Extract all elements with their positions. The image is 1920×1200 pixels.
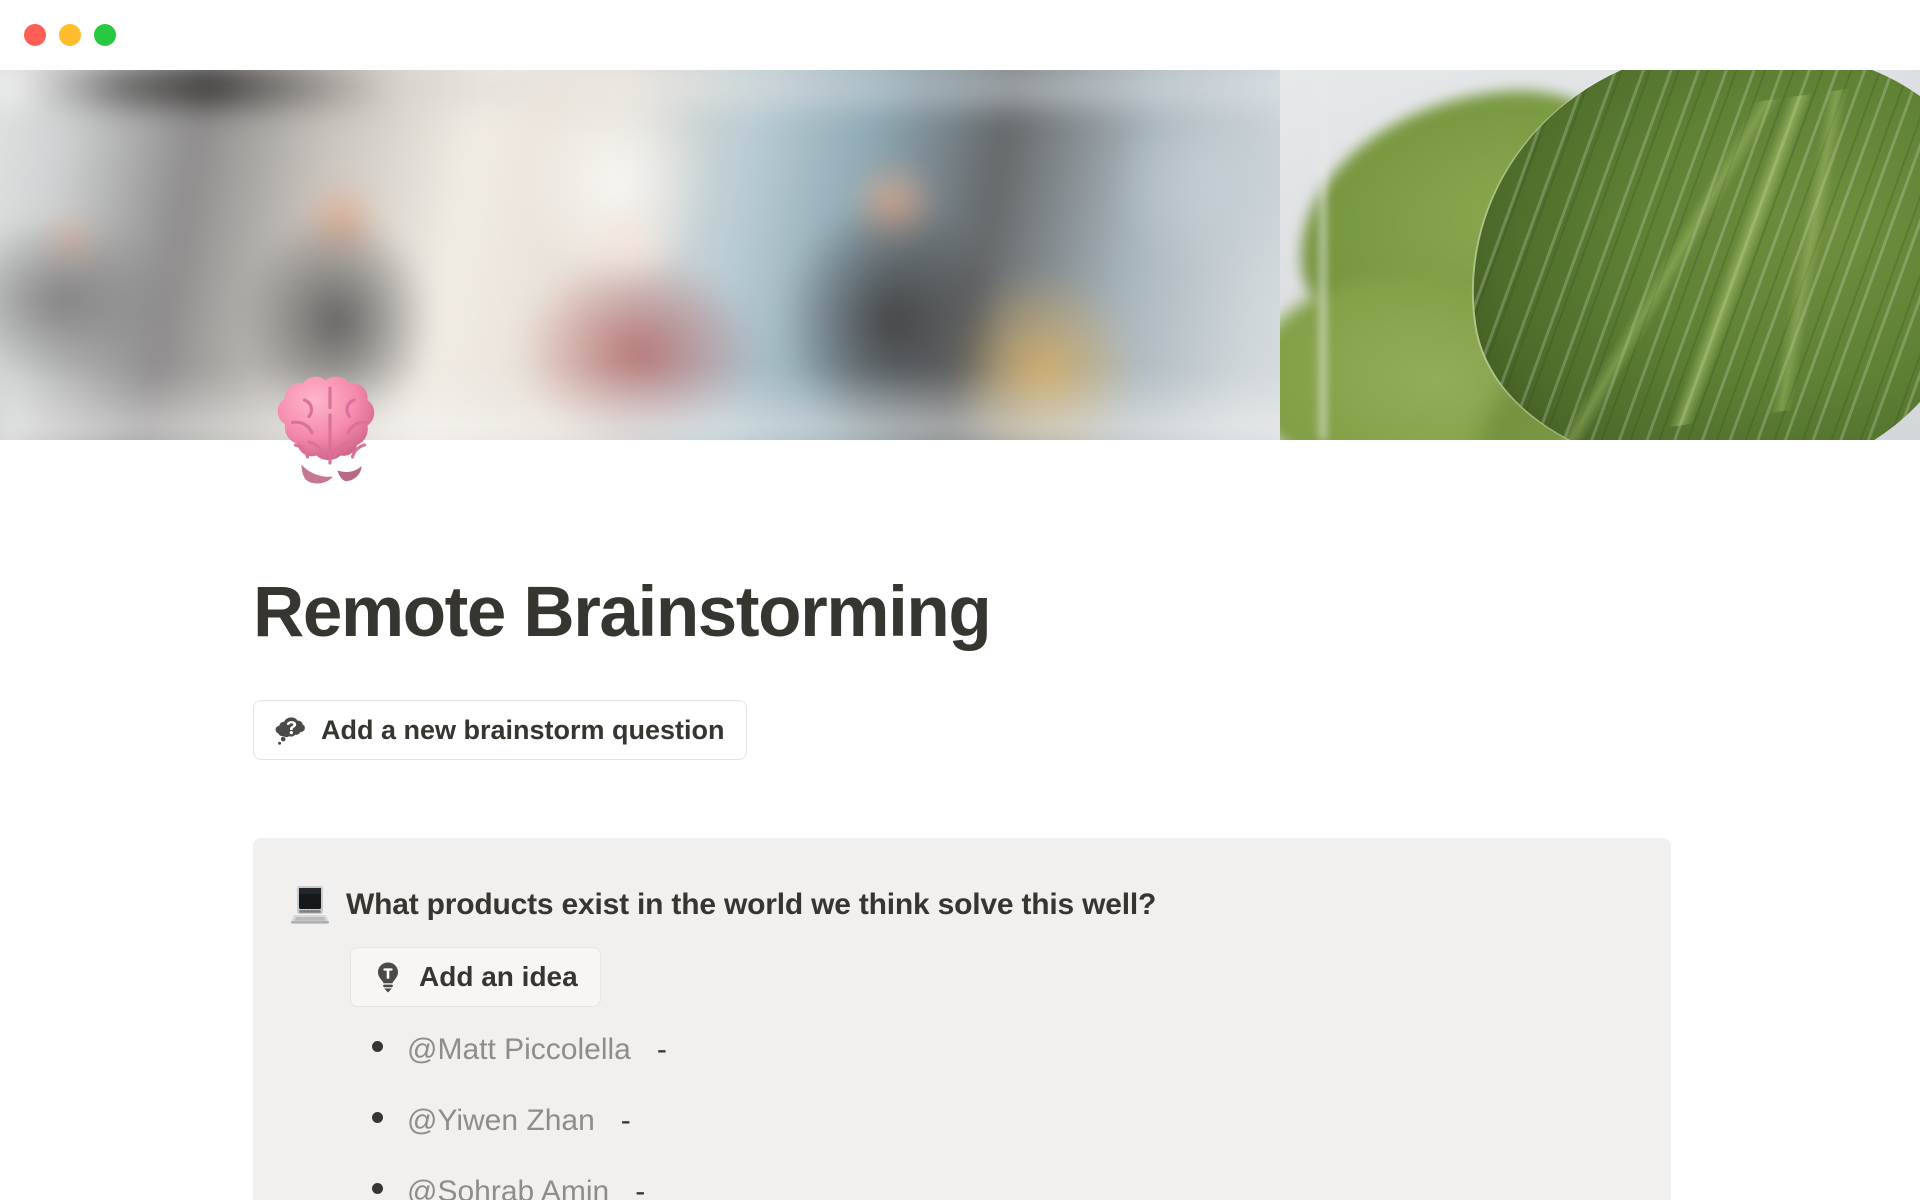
minimize-window-button[interactable] (59, 24, 81, 46)
laptop-icon (290, 884, 330, 926)
cover-plant-photo (1280, 67, 1920, 440)
mention-chip[interactable]: @Matt Piccolella (407, 1033, 631, 1066)
plant-leaf-veins (1482, 74, 1920, 440)
thought-balloon-question-icon (275, 714, 307, 746)
mention-chip[interactable]: @Yiwen Zhan (407, 1104, 595, 1137)
list-item[interactable]: @Yiwen Zhan - (253, 1104, 1671, 1137)
cover-video-top-band (0, 67, 1320, 107)
idea-list: @Matt Piccolella - @Yiwen Zhan - @Sohrab… (253, 1033, 1671, 1200)
window-title-bar (0, 0, 1920, 70)
question-title: What products exist in the world we thin… (346, 888, 1156, 922)
cover-video-bottom-fade (0, 370, 1320, 440)
idea-text: - (621, 1104, 631, 1137)
traffic-light-group (24, 24, 116, 46)
question-header: What products exist in the world we thin… (253, 884, 1671, 926)
lightbulb-icon (373, 961, 403, 993)
list-item[interactable]: @Matt Piccolella - (253, 1033, 1671, 1066)
brainstorm-question-card: What products exist in the world we thin… (253, 838, 1671, 1200)
zoom-window-button[interactable] (94, 24, 116, 46)
cover-image-seam (1316, 67, 1326, 440)
page-title: Remote Brainstorming (253, 575, 990, 652)
add-idea-button[interactable]: Add an idea (350, 947, 601, 1007)
bullet-icon (372, 1183, 383, 1194)
add-idea-label: Add an idea (419, 960, 578, 994)
close-window-button[interactable] (24, 24, 46, 46)
list-item[interactable]: @Sohrab Amin - (253, 1175, 1671, 1200)
idea-text: - (657, 1033, 667, 1066)
add-brainstorm-question-label: Add a new brainstorm question (321, 714, 725, 746)
mention-chip[interactable]: @Sohrab Amin (407, 1175, 609, 1200)
bullet-icon (372, 1041, 383, 1052)
idea-text: - (635, 1175, 645, 1200)
add-brainstorm-question-button[interactable]: Add a new brainstorm question (253, 700, 747, 760)
brain-icon[interactable] (255, 355, 405, 505)
bullet-icon (372, 1112, 383, 1123)
